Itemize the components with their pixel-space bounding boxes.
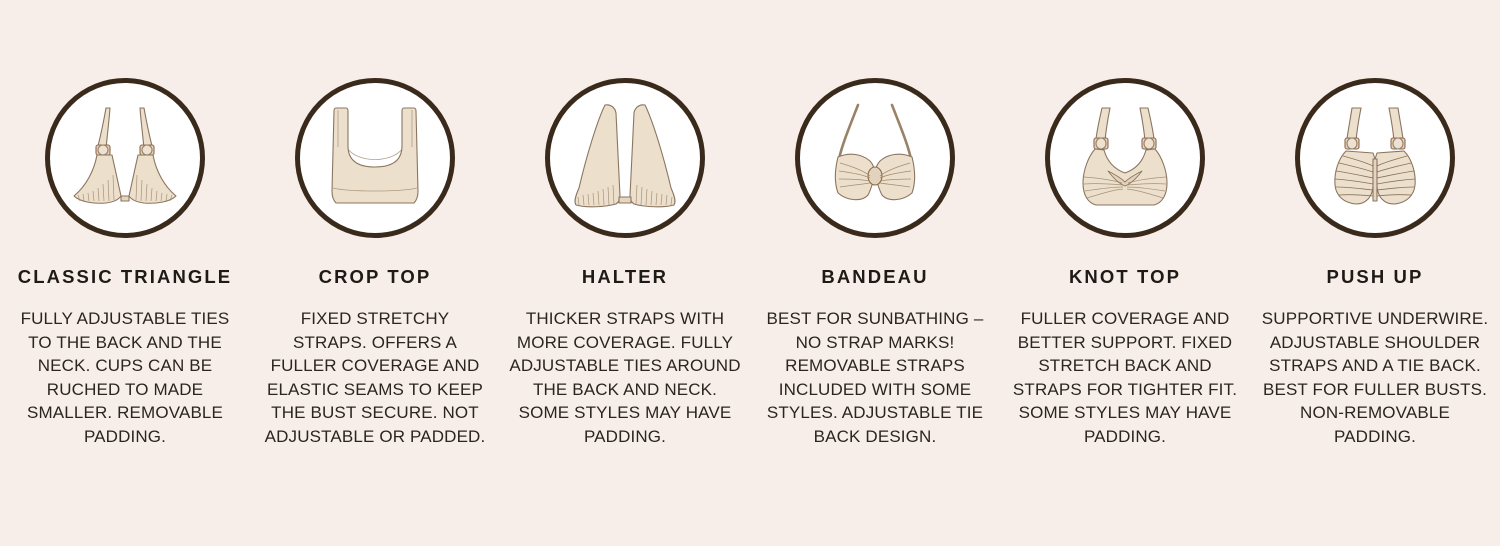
- style-description: BEST FOR SUNBATHING – NO STRAP MARKS! RE…: [766, 307, 984, 448]
- crop-top-bikini-icon: [295, 78, 455, 238]
- style-title: HALTER: [582, 266, 668, 287]
- style-card-knot-top: KNOT TOP FULLER COVERAGE AND BETTER SUPP…: [1000, 78, 1250, 448]
- halter-bikini-icon: [545, 78, 705, 238]
- style-card-crop-top: CROP TOP FIXED STRETCHY STRAPS. OFFERS A…: [250, 78, 500, 448]
- style-description: FIXED STRETCHY STRAPS. OFFERS A FULLER C…: [264, 307, 486, 448]
- style-title: PUSH UP: [1327, 266, 1424, 287]
- style-description: THICKER STRAPS WITH MORE COVERAGE. FULLY…: [507, 307, 743, 448]
- style-description: FULLER COVERAGE AND BETTER SUPPORT. FIXE…: [1009, 307, 1241, 448]
- classic-triangle-bikini-icon: [45, 78, 205, 238]
- swimwear-style-guide: CLASSIC TRIANGLE FULLY ADJUSTABLE TIES T…: [0, 0, 1500, 546]
- style-title: KNOT TOP: [1069, 266, 1181, 287]
- knot-top-bikini-icon: [1045, 78, 1205, 238]
- push-up-bikini-icon: [1295, 78, 1455, 238]
- style-description: SUPPORTIVE UNDERWIRE. ADJUSTABLE SHOULDE…: [1261, 307, 1489, 448]
- style-card-bandeau: BANDEAU BEST FOR SUNBATHING – NO STRAP M…: [750, 78, 1000, 448]
- style-card-classic-triangle: CLASSIC TRIANGLE FULLY ADJUSTABLE TIES T…: [0, 78, 250, 448]
- style-title: BANDEAU: [821, 266, 928, 287]
- style-title: CLASSIC TRIANGLE: [18, 266, 233, 287]
- style-card-push-up: PUSH UP SUPPORTIVE UNDERWIRE. ADJUSTABLE…: [1250, 78, 1500, 448]
- style-description: FULLY ADJUSTABLE TIES TO THE BACK AND TH…: [11, 307, 239, 448]
- style-card-halter: HALTER THICKER STRAPS WITH MORE COVERAGE…: [500, 78, 750, 448]
- style-title: CROP TOP: [319, 266, 432, 287]
- bandeau-bikini-icon: [795, 78, 955, 238]
